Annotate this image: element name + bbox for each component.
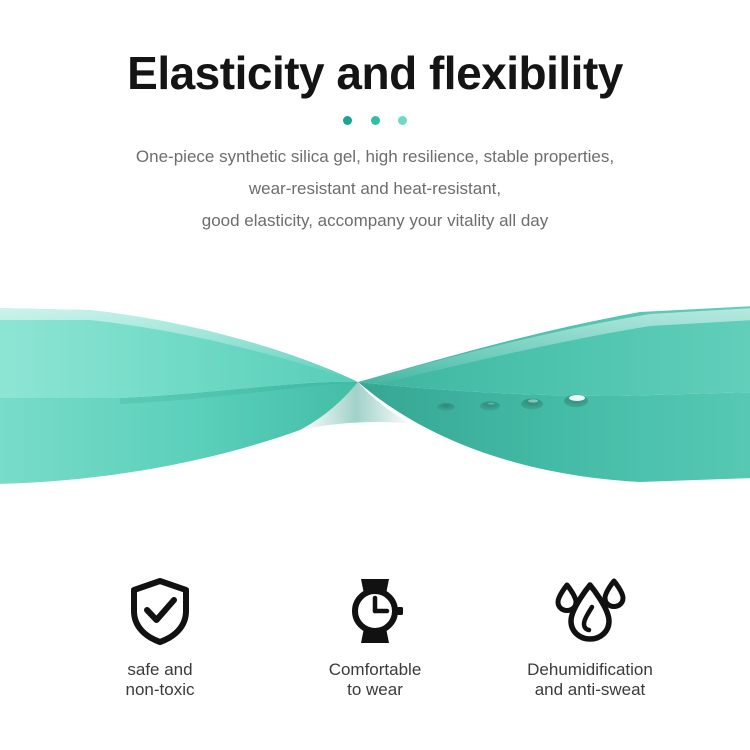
water-droplets-icon bbox=[483, 575, 698, 647]
feature-label-line-2: non-toxic bbox=[53, 680, 268, 700]
page-title: Elasticity and flexibility bbox=[0, 0, 750, 101]
header-section: Elasticity and flexibility One-piece syn… bbox=[0, 0, 750, 237]
feature-label-line-1: Comfortable bbox=[268, 660, 483, 680]
feature-label-safe-non-toxic: safe and non-toxic bbox=[53, 660, 268, 700]
feature-label-line-1: safe and bbox=[53, 660, 268, 680]
feature-label-line-2: and anti-sweat bbox=[483, 680, 698, 700]
shield-check-icon bbox=[53, 575, 268, 647]
band-hole-2-highlight bbox=[487, 403, 494, 405]
subtitle-line-1: One-piece synthetic silica gel, high res… bbox=[0, 141, 750, 173]
features-section: safe and non-toxic bbox=[0, 575, 750, 700]
feature-label-line-1: Dehumidification bbox=[483, 660, 698, 680]
band-hole-4-highlight bbox=[569, 395, 585, 401]
feature-label-comfortable-to-wear: Comfortable to wear bbox=[268, 660, 483, 700]
feature-label-dehumidification: Dehumidification and anti-sweat bbox=[483, 660, 698, 700]
subtitle-line-2: wear-resistant and heat-resistant, bbox=[0, 173, 750, 205]
subtitle-line-3: good elasticity, accompany your vitality… bbox=[0, 205, 750, 237]
band-hole-1 bbox=[437, 403, 455, 411]
dot-2 bbox=[371, 116, 380, 125]
wristwatch-icon bbox=[268, 575, 483, 647]
subtitle: One-piece synthetic silica gel, high res… bbox=[0, 141, 750, 237]
feature-label-line-2: to wear bbox=[268, 680, 483, 700]
feature-dehumidification: Dehumidification and anti-sweat bbox=[483, 575, 698, 700]
band-right-lower bbox=[358, 382, 750, 482]
dot-1 bbox=[343, 116, 352, 125]
feature-comfortable-to-wear: Comfortable to wear bbox=[268, 575, 483, 700]
feature-safe-non-toxic: safe and non-toxic bbox=[53, 575, 268, 700]
product-image bbox=[0, 270, 750, 520]
dot-separator bbox=[343, 115, 407, 125]
dot-3 bbox=[398, 116, 407, 125]
band-hole-3-highlight bbox=[528, 399, 538, 402]
product-feature-page: Elasticity and flexibility One-piece syn… bbox=[0, 0, 750, 750]
